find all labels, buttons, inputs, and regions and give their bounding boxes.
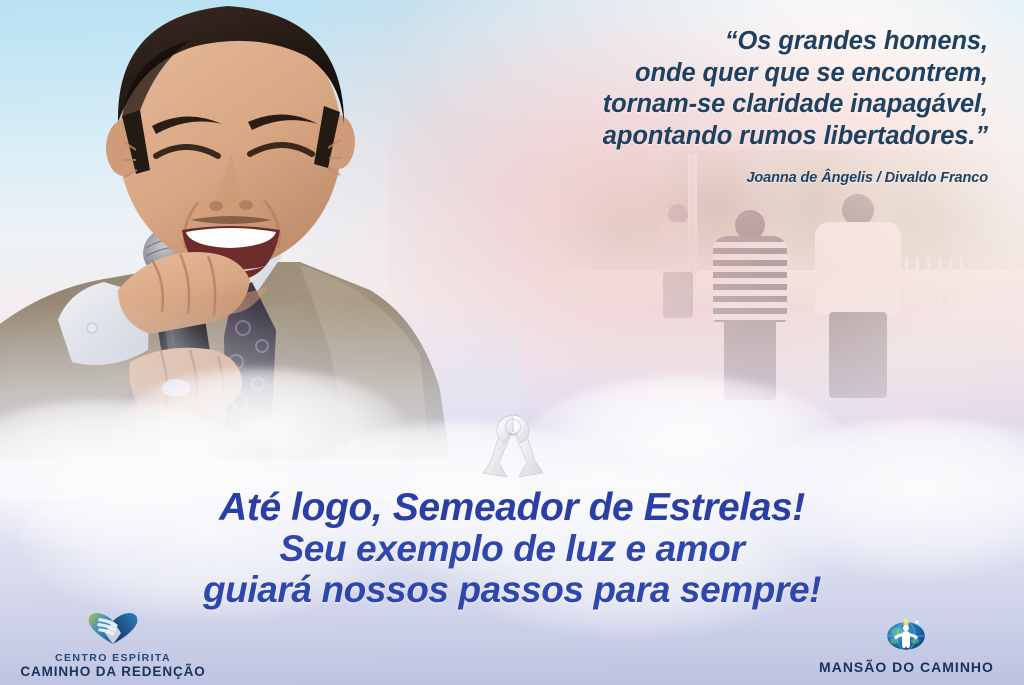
quote-line-3: tornam-se claridade inapagável, [428, 89, 988, 121]
logo-mansao-do-caminho: MANSÃO DO CAMINHO [799, 616, 1014, 675]
quote-line-4: apontando rumos libertadores.” [428, 121, 988, 153]
background-ground [560, 322, 1024, 440]
headline-line-2: Seu exemplo de luz e amor [0, 528, 1024, 569]
logo-mansao-do-caminho-label: MANSÃO DO CAMINHO [799, 659, 1014, 675]
quote-attribution: Joanna de Ângelis / Divaldo Franco [428, 170, 988, 186]
white-mourning-ribbon-icon [477, 405, 549, 485]
memorial-poster: “Os grandes homens, onde quer que se enc… [0, 0, 1024, 685]
logo-centro-espirita-line2: CAMINHO DA REDENÇÃO [8, 664, 218, 679]
headline-line-1: Até logo, Semeador de Estrelas! [0, 487, 1024, 528]
portrait-photo [0, 0, 470, 460]
background-photo [560, 150, 1024, 440]
heart-hands-icon [8, 611, 218, 650]
globe-figure-flame-icon [799, 616, 1014, 657]
quote-text: “Os grandes homens, onde quer que se enc… [428, 26, 988, 152]
background-person-striped-shirt [710, 204, 790, 404]
logo-centro-espirita-line1: CENTRO ESPÍRITA [8, 652, 218, 664]
background-person-white-shirt [815, 194, 901, 404]
quote-line-1: “Os grandes homens, [428, 26, 988, 58]
quote-line-2: onde quer que se encontrem, [428, 58, 988, 90]
headline-text: Até logo, Semeador de Estrelas! Seu exem… [0, 487, 1024, 610]
background-person-distant [656, 204, 700, 324]
headline-line-3: guiará nossos passos para sempre! [0, 569, 1024, 610]
logo-centro-espirita: CENTRO ESPÍRITA CAMINHO DA REDENÇÃO [8, 611, 218, 679]
